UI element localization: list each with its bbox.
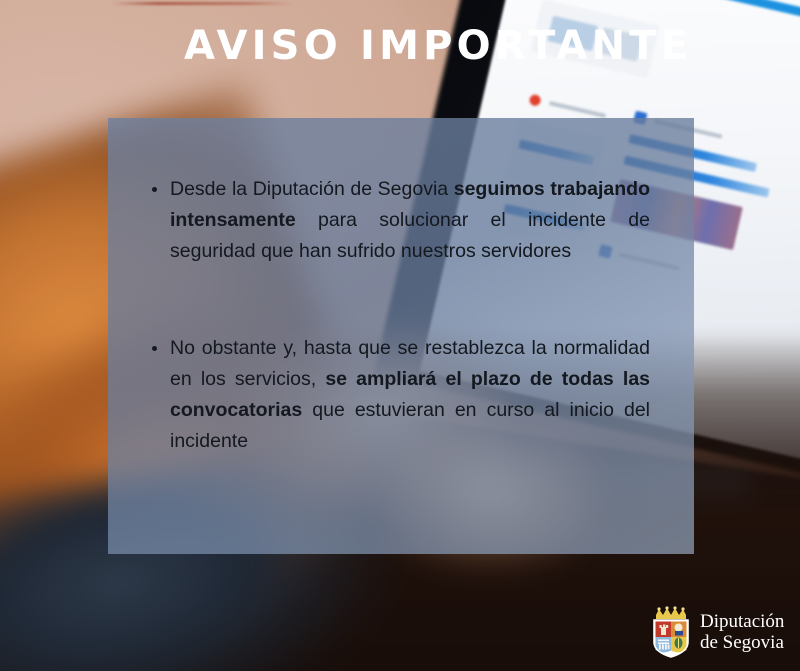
logo-line-1: Diputación	[700, 611, 784, 632]
message-panel: Desde la Diputación de Segovia seguimos …	[108, 118, 694, 554]
logo: Diputación de Segovia	[650, 606, 784, 658]
poster-canvas: AVISO IMPORTANTE Desde la Diputación de …	[0, 0, 800, 671]
screen-text-line	[549, 101, 606, 118]
list-item: Desde la Diputación de Segovia seguimos …	[152, 174, 650, 267]
top-accent-rule	[112, 2, 292, 5]
segovia-coat-of-arms-icon	[650, 606, 692, 658]
screen-red-dot-icon	[528, 94, 541, 107]
logo-text: Diputación de Segovia	[700, 611, 784, 653]
logo-line-2: de Segovia	[700, 632, 784, 653]
list-item: No obstante y, hasta que se restablezca …	[152, 333, 650, 457]
bullet-list: Desde la Diputación de Segovia seguimos …	[152, 174, 650, 457]
page-title: AVISO IMPORTANTE	[184, 26, 692, 66]
